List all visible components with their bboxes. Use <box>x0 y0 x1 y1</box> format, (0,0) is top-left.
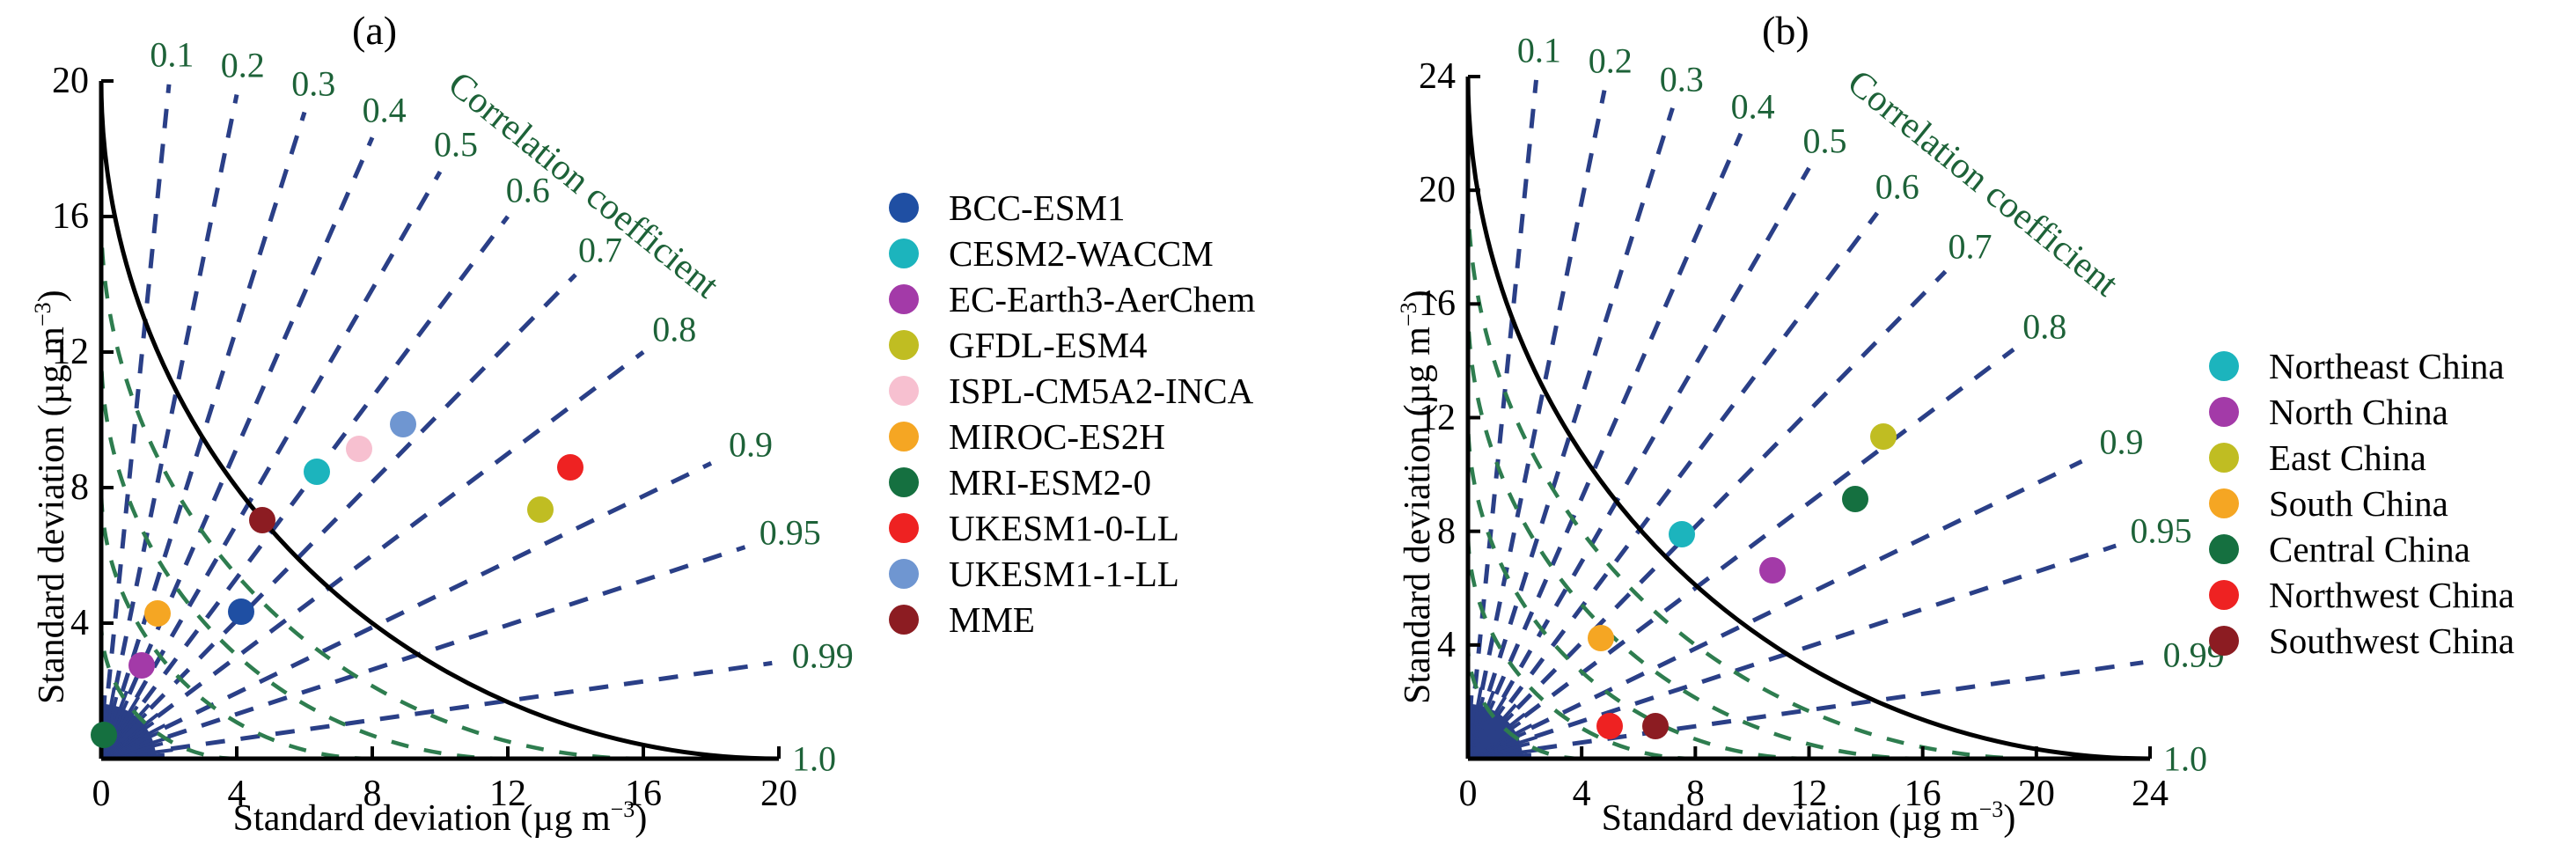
legend-item-label: Northeast China <box>2269 349 2505 385</box>
correlation-tick-label: 0.95 <box>760 511 821 553</box>
panel-a-label: (a) <box>352 7 397 54</box>
x-tick-label: 4 <box>1573 773 1591 815</box>
correlation-tick-label: 0.1 <box>150 34 194 76</box>
correlation-tick-label: 0.2 <box>1589 40 1633 82</box>
legend-swatch-icon <box>889 605 919 635</box>
correlation-tick-label: 0.8 <box>2022 305 2066 347</box>
legend-item-label: Central China <box>2269 532 2470 568</box>
legend-item-label: MIROC-ES2H <box>949 419 1165 455</box>
taylor-diagram-figure: (a) Standard deviation (µg m−3) Standard… <box>0 0 2576 859</box>
data-point-east-china[interactable] <box>1870 423 1897 450</box>
y-axis-title-sup: −3 <box>30 302 55 327</box>
y-tick-label: 12 <box>1401 397 1456 439</box>
panel-a-x-axis-title: Standard deviation (µg m−3) <box>106 797 774 840</box>
y-tick-label: 12 <box>34 331 89 373</box>
legend-item-label: MRI-ESM2-0 <box>949 465 1151 501</box>
correlation-tick-label: 0.99 <box>792 635 854 677</box>
data-point-cesm2-waccm[interactable] <box>304 459 330 485</box>
legend-item[interactable]: BCC-ESM1 <box>889 185 1255 231</box>
data-point-mme[interactable] <box>249 507 275 533</box>
panel-b-plot-grid <box>1373 0 2218 859</box>
data-point-central-china[interactable] <box>1842 486 1868 512</box>
legend-swatch-icon <box>889 422 919 452</box>
x-tick-label: 8 <box>1686 773 1705 815</box>
x-tick-label: 8 <box>363 773 382 815</box>
correlation-tick-label: 0.95 <box>2131 510 2192 552</box>
y-tick-label: 4 <box>1401 624 1456 666</box>
data-point-northeast-china[interactable] <box>1669 521 1695 547</box>
data-point-mri-esm2-0[interactable] <box>91 722 117 748</box>
correlation-tick-label: 0.7 <box>1949 225 1993 267</box>
y-tick-label: 20 <box>1401 169 1456 211</box>
data-point-ec-earth3-aerchem[interactable] <box>128 652 155 679</box>
correlation-tick-label: 0.2 <box>221 45 265 86</box>
x-tick-label: 12 <box>1791 773 1828 815</box>
x-tick-label: 20 <box>2018 773 2055 815</box>
legend-item[interactable]: UKESM1-0-LL <box>889 505 1255 551</box>
data-point-miroc-es2h[interactable] <box>144 600 171 627</box>
legend-item[interactable]: MRI-ESM2-0 <box>889 459 1255 505</box>
legend-item-label: UKESM1-0-LL <box>949 510 1179 547</box>
correlation-tick-label: 0.9 <box>729 423 773 465</box>
y-tick-label: 8 <box>34 466 89 509</box>
legend-item-label: GFDL-ESM4 <box>949 327 1148 363</box>
legend-item[interactable]: Northwest China <box>2209 572 2514 618</box>
y-tick-label: 24 <box>1401 55 1456 98</box>
legend-swatch-icon <box>889 513 919 543</box>
legend-swatch-icon <box>889 559 919 589</box>
data-point-bcc-esm1[interactable] <box>228 598 254 625</box>
data-point-northwest-china[interactable] <box>1596 713 1623 739</box>
legend-swatch-icon <box>889 193 919 223</box>
x-axis-title-text: Standard deviation (µg m <box>233 798 611 839</box>
correlation-tick-label: 0.3 <box>1660 59 1704 100</box>
legend-item[interactable]: East China <box>2209 435 2514 481</box>
correlation-tick-label: 0.3 <box>291 63 335 105</box>
correlation-tick-label: 0.9 <box>2100 422 2144 463</box>
legend-swatch-icon <box>2209 488 2239 518</box>
legend-swatch-icon <box>2209 534 2239 564</box>
y-tick-label: 16 <box>34 195 89 238</box>
legend-item[interactable]: CESM2-WACCM <box>889 231 1255 276</box>
legend-item-label: EC-Earth3-AerChem <box>949 282 1255 318</box>
panel-b-label: (b) <box>1762 7 1809 54</box>
correlation-tick-label: 0.8 <box>652 308 696 349</box>
x-tick-label: 0 <box>1459 773 1478 815</box>
legend-swatch-icon <box>2209 626 2239 656</box>
legend-item[interactable]: MIROC-ES2H <box>889 414 1255 459</box>
legend-item[interactable]: Southwest China <box>2209 618 2514 664</box>
legend-swatch-icon <box>2209 443 2239 473</box>
correlation-tick-label: 1.0 <box>792 738 836 780</box>
data-point-southwest-china[interactable] <box>1642 713 1669 739</box>
legend-swatch-icon <box>889 376 919 406</box>
data-point-ukesm1-0-ll[interactable] <box>557 454 583 481</box>
legend-item[interactable]: Central China <box>2209 526 2514 572</box>
x-axis-title-end: ) <box>2003 798 2015 839</box>
y-tick-label: 20 <box>34 60 89 102</box>
correlation-tick-label: 0.7 <box>578 229 622 270</box>
legend-item-label: South China <box>2269 486 2448 522</box>
legend-item-label: Southwest China <box>2269 623 2514 659</box>
data-point-ispl-cm5a2-inca[interactable] <box>346 436 372 462</box>
correlation-tick-label: 1.0 <box>2163 738 2207 780</box>
x-axis-title-sup: −3 <box>1979 797 2004 822</box>
legend-models: BCC-ESM1CESM2-WACCMEC-Earth3-AerChemGFDL… <box>889 185 1255 642</box>
legend-item[interactable]: EC-Earth3-AerChem <box>889 276 1255 322</box>
legend-regions: Northeast ChinaNorth ChinaEast ChinaSout… <box>2209 343 2514 664</box>
legend-item-label: CESM2-WACCM <box>949 236 1214 272</box>
correlation-tick-label: 0.6 <box>1875 165 1919 207</box>
data-point-south-china[interactable] <box>1588 625 1614 651</box>
legend-swatch-icon <box>2209 397 2239 427</box>
correlation-tick-label: 0.6 <box>506 169 550 210</box>
legend-item-label: MME <box>949 602 1035 638</box>
legend-item[interactable]: GFDL-ESM4 <box>889 322 1255 368</box>
legend-swatch-icon <box>889 467 919 497</box>
panel-b: (b) Standard deviation (µg m−3) Standard… <box>1373 0 2218 859</box>
data-point-ukesm1-1-ll[interactable] <box>390 411 416 437</box>
legend-swatch-icon <box>2209 580 2239 610</box>
x-tick-label: 16 <box>625 773 662 815</box>
legend-item-label: BCC-ESM1 <box>949 190 1126 226</box>
legend-swatch-icon <box>889 239 919 268</box>
y-axis-title-text: Standard deviation (µg m <box>32 327 72 704</box>
legend-item-label: East China <box>2269 440 2426 476</box>
legend-item[interactable]: North China <box>2209 389 2514 435</box>
legend-item[interactable]: Northeast China <box>2209 343 2514 389</box>
y-tick-label: 8 <box>1401 510 1456 553</box>
correlation-tick-label: 0.4 <box>363 90 407 131</box>
y-axis-title-end: ) <box>32 290 72 302</box>
x-tick-label: 16 <box>1904 773 1941 815</box>
legend-item[interactable]: South China <box>2209 481 2514 526</box>
legend-item-label: UKESM1-1-LL <box>949 556 1179 592</box>
data-point-gfdl-esm4[interactable] <box>527 496 554 523</box>
y-tick-label: 16 <box>1401 283 1456 325</box>
x-tick-label: 4 <box>228 773 246 815</box>
legend-item-label: North China <box>2269 394 2448 430</box>
data-point-north-china[interactable] <box>1759 557 1786 584</box>
correlation-tick-label: 0.5 <box>434 123 478 165</box>
legend-item-label: ISPL-CM5A2-INCA <box>949 373 1253 409</box>
correlation-tick-label: 0.1 <box>1517 30 1561 71</box>
legend-swatch-icon <box>2209 351 2239 381</box>
legend-item[interactable]: ISPL-CM5A2-INCA <box>889 368 1255 414</box>
legend-swatch-icon <box>889 330 919 360</box>
correlation-tick-label: 0.5 <box>1803 120 1847 161</box>
x-tick-label: 12 <box>489 773 526 815</box>
y-tick-label: 4 <box>34 602 89 644</box>
correlation-tick-label: 0.4 <box>1731 85 1775 127</box>
legend-item[interactable]: UKESM1-1-LL <box>889 551 1255 597</box>
legend-swatch-icon <box>889 284 919 314</box>
legend-item-label: Northwest China <box>2269 577 2514 613</box>
x-tick-label: 0 <box>92 773 111 815</box>
legend-item[interactable]: MME <box>889 597 1255 642</box>
